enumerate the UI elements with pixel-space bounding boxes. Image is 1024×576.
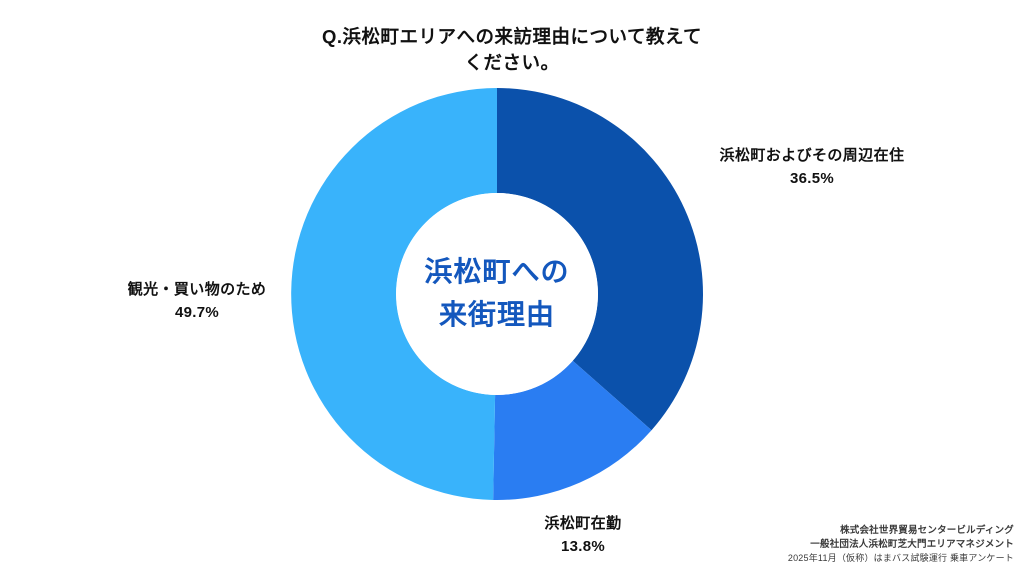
segment-label-work-name: 浜松町在勤 [490, 514, 676, 534]
credit-line-company: 株式会社世界貿易センタービルディング [788, 524, 1014, 538]
credit-line-survey: 2025年11月（仮称）はまバス試験運行 乗車アンケート [788, 552, 1014, 565]
segment-label-residents-value: 36.5% [697, 170, 927, 188]
donut-segments [291, 88, 703, 500]
segment-label-tourism-name: 観光・買い物のため [104, 280, 290, 300]
segment-label-tourism: 観光・買い物のため 49.7% [104, 280, 290, 322]
donut-chart: 浜松町への 来街理由 [291, 88, 703, 500]
segment-label-tourism-value: 49.7% [104, 304, 290, 322]
page-title: Q.浜松町エリアへの来訪理由について教えて ください。 [252, 24, 772, 77]
credit-line-association: 一般社団法人浜松町芝大門エリアマネジメント [788, 538, 1014, 552]
segment-label-residents-name: 浜松町およびその周辺在住 [697, 146, 927, 166]
segment-label-work: 浜松町在勤 13.8% [490, 514, 676, 556]
footer-credits: 株式会社世界貿易センタービルディング 一般社団法人浜松町芝大門エリアマネジメント… [788, 524, 1014, 565]
segment-label-work-value: 13.8% [490, 538, 676, 556]
segment-label-residents: 浜松町およびその周辺在住 36.5% [697, 146, 927, 188]
donut-hole [396, 193, 598, 395]
donut-chart-svg [291, 88, 703, 500]
